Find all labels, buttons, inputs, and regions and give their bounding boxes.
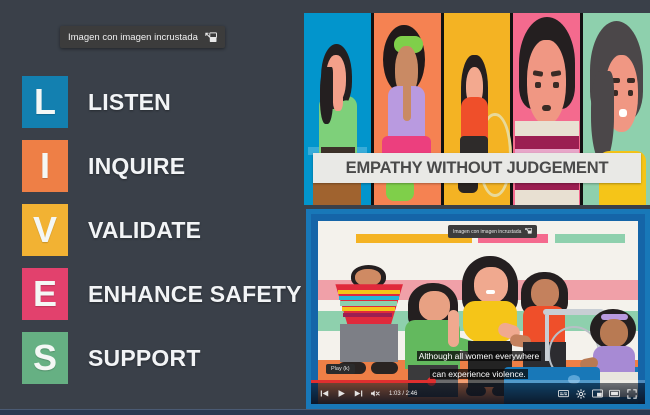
picture-in-picture-icon-inner	[525, 228, 532, 236]
video-stage[interactable]: Imagen con imagen incrustada Although al…	[318, 221, 638, 404]
picture-in-picture-icon	[205, 32, 217, 43]
letter-e: E	[33, 276, 57, 312]
lives-item-inquire: I INQUIRE	[22, 138, 292, 194]
lives-word-validate: VALIDATE	[88, 217, 201, 244]
letter-tile-e: E	[22, 268, 68, 320]
pip-tooltip-inner: Imagen con imagen incrustada	[448, 225, 537, 238]
letter-l: L	[34, 84, 56, 120]
letter-tile-i: I	[22, 140, 68, 192]
theater-mode-button[interactable]	[606, 385, 623, 402]
fullscreen-button[interactable]	[623, 385, 640, 402]
letter-s: S	[33, 340, 57, 376]
lives-item-support: S SUPPORT	[22, 330, 292, 386]
letter-i: I	[40, 148, 50, 184]
screen: Imagen con imagen incrustada L LISTEN I	[0, 0, 650, 415]
lives-word-inquire: INQUIRE	[88, 153, 185, 180]
pip-tooltip-inner-label: Imagen con imagen incrustada	[453, 229, 521, 235]
lives-acronym-panel: Imagen con imagen incrustada L LISTEN I	[0, 0, 300, 409]
mute-button[interactable]	[367, 385, 384, 402]
empathy-banner-text: EMPATHY WITHOUT JUDGEMENT	[346, 159, 609, 178]
video-figure-1	[331, 265, 408, 378]
lives-word-enhance-safety: ENHANCE SAFETY	[88, 281, 302, 308]
video-time-display: 1:03 / 2:46	[389, 391, 417, 397]
lives-item-listen: L LISTEN	[22, 74, 292, 130]
previous-video-button[interactable]	[316, 385, 333, 402]
wall-band-green	[555, 234, 625, 243]
lives-item-enhance-safety: E ENHANCE SAFETY	[22, 266, 292, 322]
play-button[interactable]	[333, 385, 350, 402]
next-video-button[interactable]	[350, 385, 367, 402]
letter-tile-l: L	[22, 76, 68, 128]
pip-tooltip-label: Imagen con imagen incrustada	[68, 32, 198, 43]
video-player-card: Imagen con imagen incrustada Although al…	[306, 209, 650, 409]
lives-item-validate: V VALIDATE	[22, 202, 292, 258]
lives-word-listen: LISTEN	[88, 89, 171, 116]
subtitles-button[interactable]	[555, 385, 572, 402]
letter-tile-v: V	[22, 204, 68, 256]
lives-word-support: SUPPORT	[88, 345, 201, 372]
empathy-illustration-card: EMPATHY WITHOUT JUDGEMENT	[304, 13, 650, 205]
lives-list: L LISTEN I INQUIRE V VALIDATE E	[22, 74, 292, 394]
video-controls-bar: 1:03 / 2:46	[311, 383, 645, 404]
window-bottom-strip	[0, 409, 650, 415]
play-tooltip: Play (k)	[326, 364, 355, 374]
right-column: EMPATHY WITHOUT JUDGEMENT	[300, 0, 650, 409]
pip-tooltip: Imagen con imagen incrustada	[60, 26, 225, 48]
letter-tile-s: S	[22, 332, 68, 384]
video-player[interactable]: Imagen con imagen incrustada Although al…	[306, 209, 650, 409]
miniplayer-button[interactable]	[589, 385, 606, 402]
letter-v: V	[33, 212, 57, 248]
empathy-banner: EMPATHY WITHOUT JUDGEMENT	[313, 153, 641, 183]
settings-button[interactable]	[572, 385, 589, 402]
